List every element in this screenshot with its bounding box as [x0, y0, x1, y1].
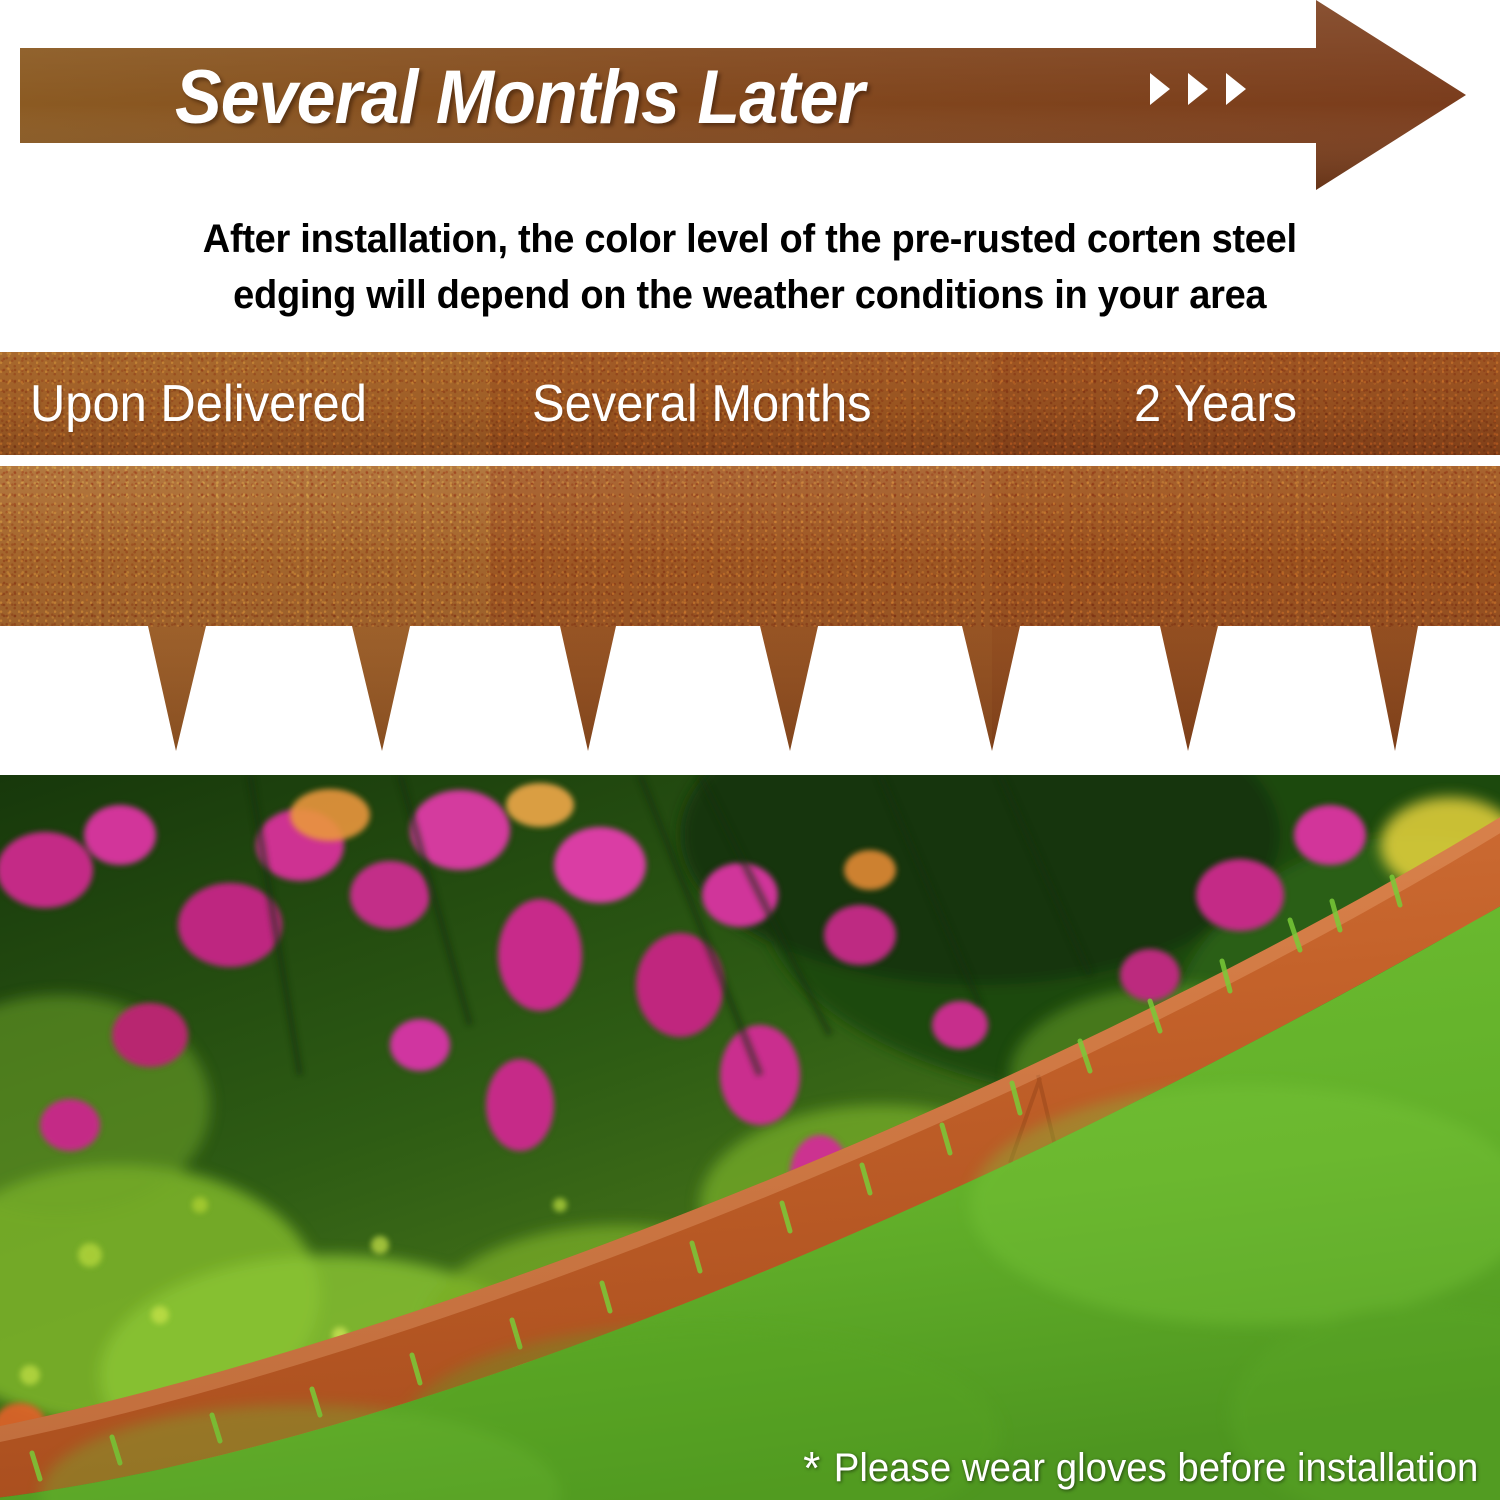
chevron-right-icon	[1188, 73, 1208, 105]
subtitle-block: After installation, the color level of t…	[0, 192, 1500, 342]
product-infographic: Several Months Later After installation,…	[0, 0, 1500, 1500]
subtitle-line-1: After installation, the color level of t…	[203, 211, 1297, 267]
rust-label-text: Several Months	[532, 378, 872, 430]
edging-spike-shape	[0, 466, 1500, 775]
rust-label-cell-several-months: Several Months	[490, 352, 992, 455]
rust-label-cell-upon-delivered: Upon Delivered	[0, 352, 490, 455]
subtitle-line-2: edging will depend on the weather condit…	[233, 267, 1266, 323]
strip-divider	[0, 455, 1500, 466]
rust-comparison-section: Upon Delivered Several Months 2 Years	[0, 352, 1500, 775]
rust-label-cell-2-years: 2 Years	[992, 352, 1500, 455]
rust-label-strip: Upon Delivered Several Months 2 Years	[0, 352, 1500, 455]
chevron-group	[1150, 73, 1246, 105]
garden-scene	[0, 775, 1500, 1500]
chevron-right-icon	[1150, 73, 1170, 105]
corten-edging-strip	[0, 466, 1500, 775]
banner-title: Several Months Later	[175, 50, 1095, 145]
rust-label-text: Upon Delivered	[30, 378, 367, 430]
asterisk-icon: *	[803, 1448, 820, 1488]
banner-arrow: Several Months Later	[0, 0, 1500, 195]
chevron-right-icon	[1226, 73, 1246, 105]
photo-caption: * Please wear gloves before installation	[803, 1444, 1478, 1492]
garden-photo: * Please wear gloves before installation	[0, 775, 1500, 1500]
photo-caption-text: Please wear gloves before installation	[833, 1444, 1478, 1492]
rust-label-text: 2 Years	[1134, 378, 1297, 430]
